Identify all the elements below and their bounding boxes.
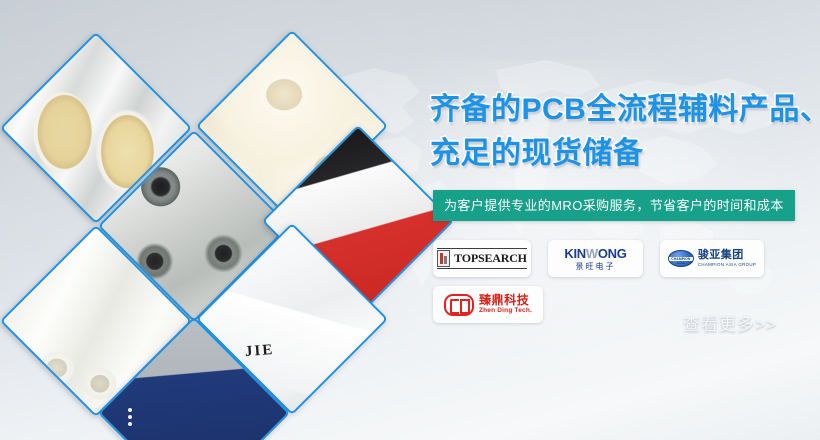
logo-zhen-ding[interactable]: 臻鼎科技 Zhen Ding Tech. [433,286,543,323]
champion-text: 骏亚集团 CHAMPION ASIA GROUP [698,250,756,267]
zhending-text: 臻鼎科技 Zhen Ding Tech. [479,294,532,315]
kinwong-lockup: KINWONG 景旺电子 [564,247,626,271]
product-collage: JIE [0,0,420,440]
headline-line-2: 充足的现货储备 [430,132,820,176]
zhending-mark-icon [444,294,474,316]
logo-topsearch[interactable]: TOPSEARCH [433,240,531,277]
topsearch-lockup: TOPSEARCH [437,248,527,269]
logo-kinwong[interactable]: KINWONG 景旺电子 [548,240,643,277]
promo-banner: JIE 齐备的PCB全流程辅料产品、 充足的现货储备 为客户提供专业的MRO采购… [0,0,820,440]
logo-champion-asia[interactable]: CHAMPION ASIA 骏亚集团 CHAMPION ASIA GROUP [660,240,764,277]
kinwong-en: KINWONG [564,247,626,260]
view-more-link[interactable]: 查看更多>> [683,310,777,335]
champion-en: CHAMPION ASIA GROUP [698,263,756,267]
kinwong-en-b: W [586,246,598,261]
zhending-lockup: 臻鼎科技 Zhen Ding Tech. [444,294,532,316]
headline-line-1: 齐备的PCB全流程辅料产品、 [430,93,820,126]
champion-cn: 骏亚集团 [698,250,756,261]
topsearch-mark-icon [437,250,450,267]
zhending-en: Zhen Ding Tech. [479,308,532,315]
globe-icon: CHAMPION ASIA [668,250,694,267]
panel-dots-icon [123,405,132,429]
globe-band-label: CHAMPION ASIA [669,257,693,261]
zhending-cn: 臻鼎科技 [479,294,532,306]
banner-content: 齐备的PCB全流程辅料产品、 充足的现货储备 为客户提供专业的MRO采购服务，节… [425,0,820,440]
banner-subtitle-bar: 为客户提供专业的MRO采购服务，节省客户的时间和成本 [433,190,795,221]
banner-headline: 齐备的PCB全流程辅料产品、 充足的现货储备 [430,88,820,176]
topsearch-label: TOPSEARCH [454,251,527,266]
kinwong-en-a: KIN [564,246,586,261]
champion-lockup: CHAMPION ASIA 骏亚集团 CHAMPION ASIA GROUP [668,250,756,267]
logo-row-1: TOPSEARCH KINWONG 景旺电子 CHAMPION ASIA 骏亚集… [433,240,820,277]
kinwong-cn: 景旺电子 [564,263,626,271]
film-watermark-text: JIE [244,342,274,361]
kinwong-en-c: ONG [598,246,627,261]
